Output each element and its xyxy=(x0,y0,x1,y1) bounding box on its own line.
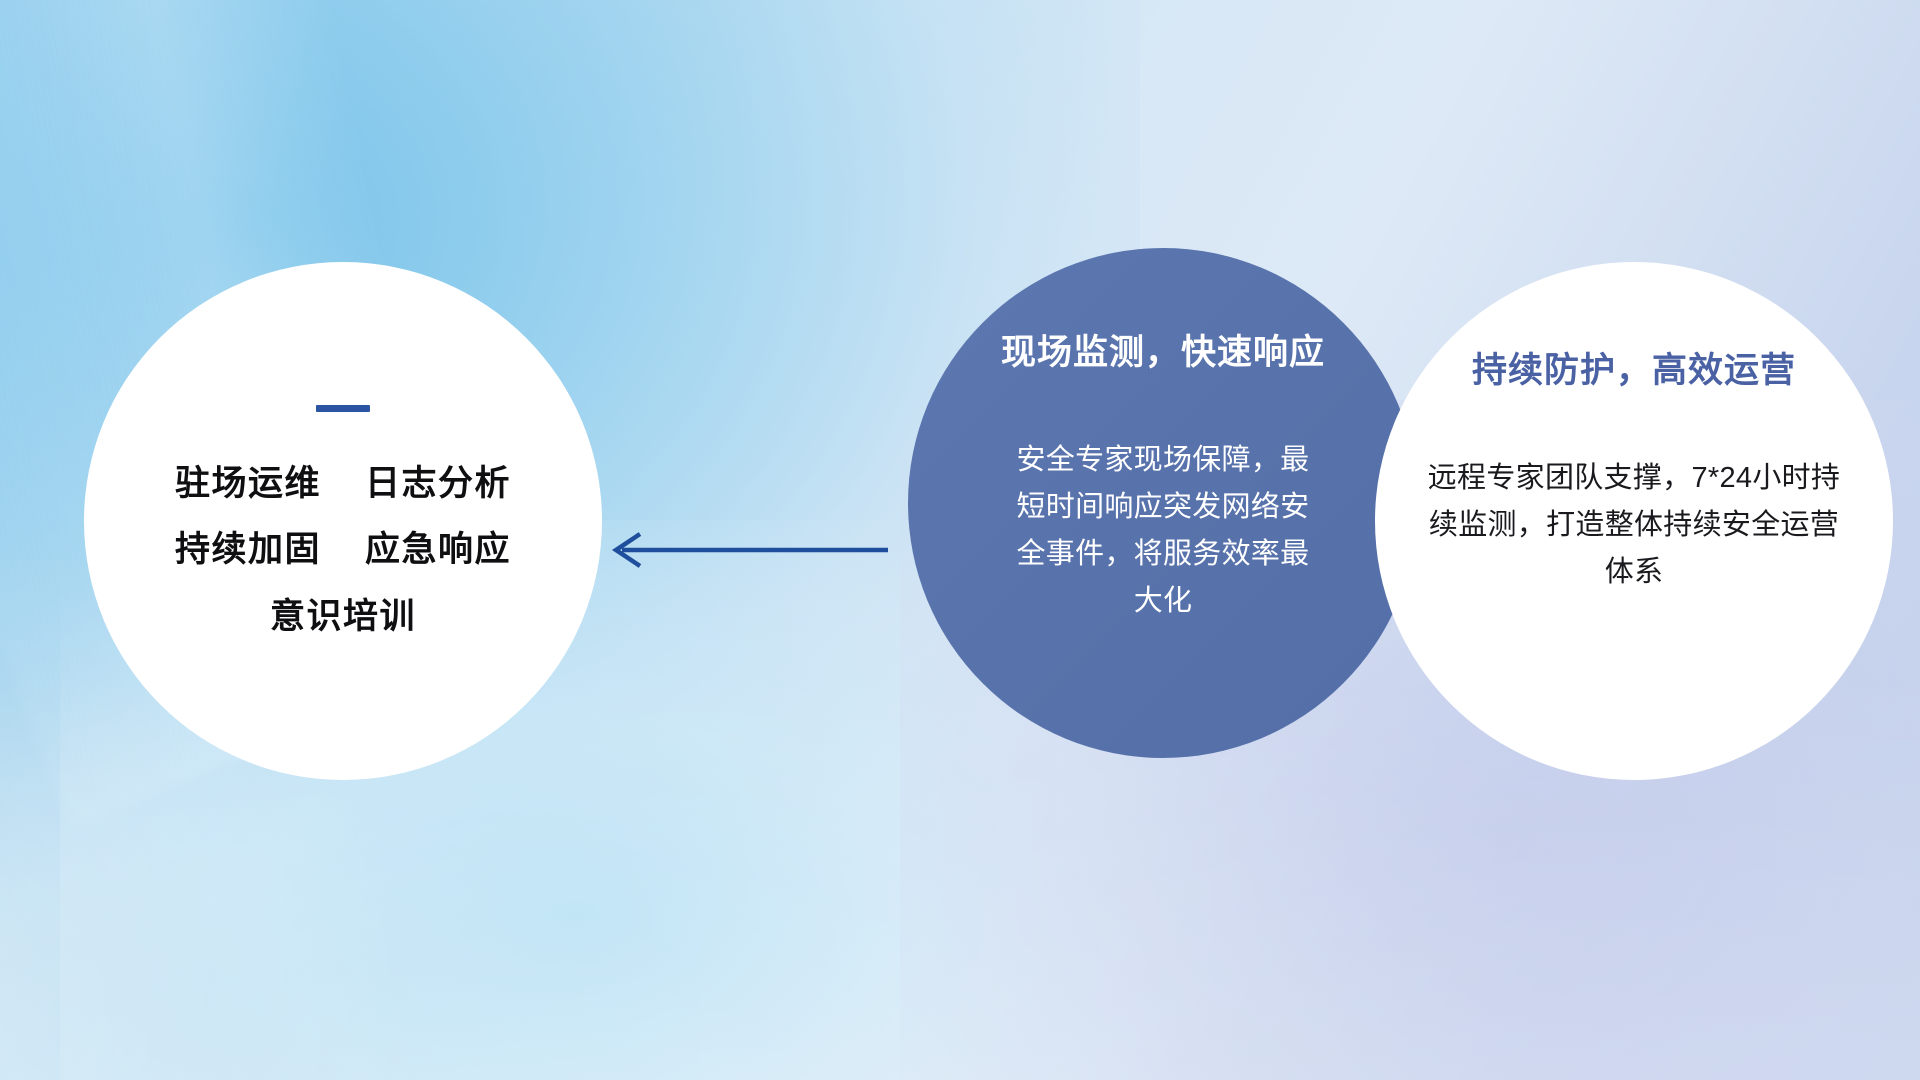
keyword-row: 驻场运维 日志分析 xyxy=(175,464,511,504)
left-keywords-circle[interactable]: 驻场运维 日志分析 持续加固 应急响应 意识培训 xyxy=(84,262,602,780)
onsite-monitoring-circle[interactable]: 现场监测，快速响应 安全专家现场保障，最短时间响应突发网络安全事件，将服务效率最… xyxy=(908,248,1418,758)
keyword-row: 持续加固 应急响应 xyxy=(175,530,511,570)
arrow-left-icon xyxy=(600,522,890,578)
keyword-item: 驻场运维 xyxy=(175,464,321,504)
slide-canvas: 驻场运维 日志分析 持续加固 应急响应 意识培训 现场监测，快速响应 安全专家现… xyxy=(0,0,1920,1080)
keyword-item: 应急响应 xyxy=(365,530,511,570)
continuous-protection-circle[interactable]: 持续防护，高效运营 远程专家团队支撑，7*24小时持续监测，打造整体持续安全运营… xyxy=(1375,262,1893,780)
keyword-item: 持续加固 xyxy=(175,530,321,570)
continuous-protection-title: 持续防护，高效运营 xyxy=(1472,342,1796,393)
onsite-monitoring-body: 安全专家现场保障，最短时间响应突发网络安全事件，将服务效率最大化 xyxy=(1002,437,1324,625)
continuous-protection-body: 远程专家团队支撑，7*24小时持续监测，打造整体持续安全运营体系 xyxy=(1424,455,1844,596)
onsite-monitoring-title: 现场监测，快速响应 xyxy=(1001,324,1325,375)
keyword-item: 日志分析 xyxy=(365,464,511,504)
keyword-row: 意识培训 xyxy=(270,597,416,637)
keyword-list: 驻场运维 日志分析 持续加固 应急响应 意识培训 xyxy=(175,464,511,637)
horizontal-dash-icon xyxy=(316,405,370,412)
keyword-item: 意识培训 xyxy=(270,597,416,637)
